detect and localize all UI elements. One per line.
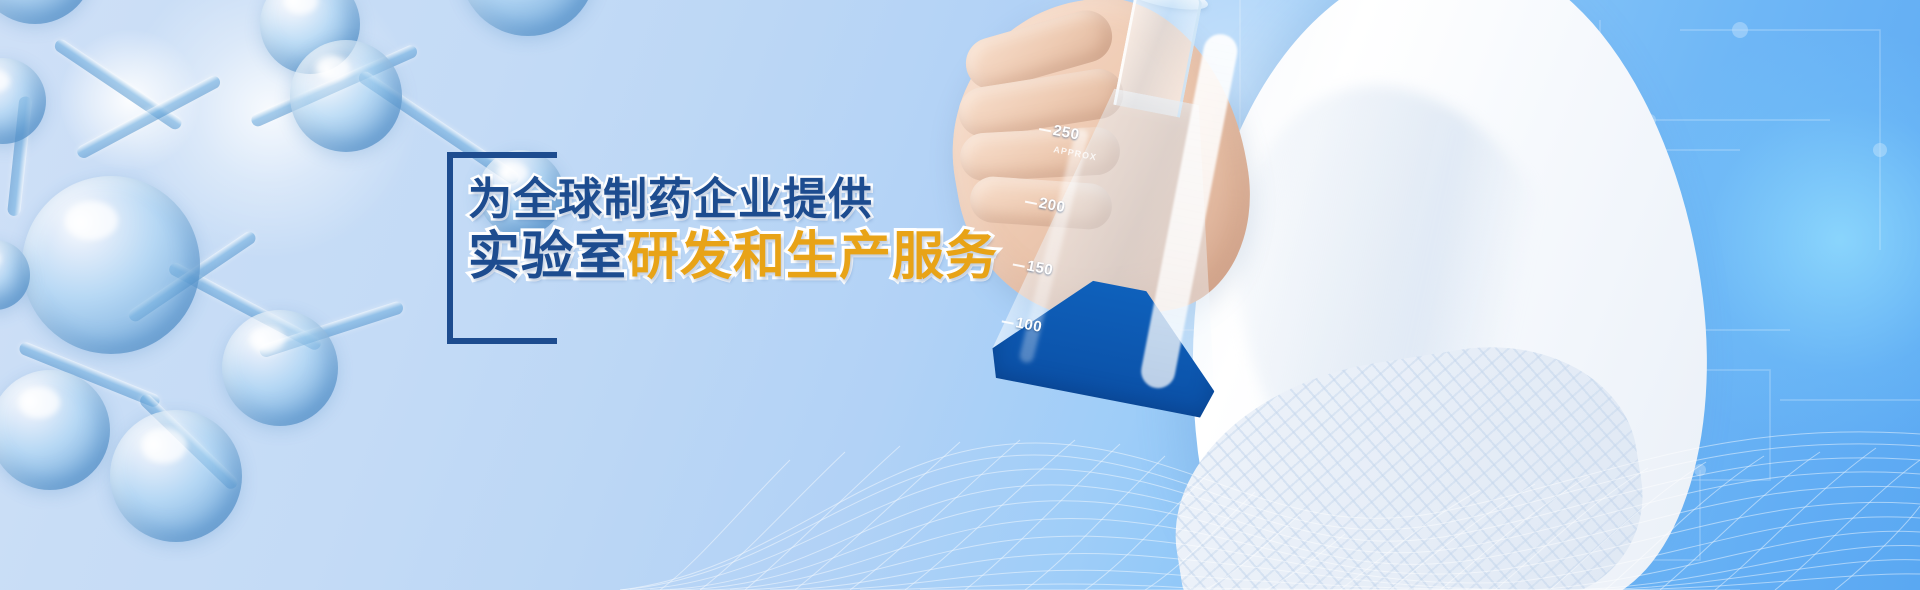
headline-line-2-blue: 实验室 [468,227,627,287]
molecule-atom [0,58,46,144]
molecule-bond [75,74,222,161]
headline-block: 为全球制药企业提供 实验室研发和生产服务 [468,178,1028,284]
molecule-bond [52,37,184,132]
wave-mesh-graphic [0,360,1920,590]
headline-line-2-gold: 研发和生产服务 [627,227,998,287]
molecule-atom [460,0,596,36]
molecule-atom [0,0,94,24]
flask-graduation-250: 250 [1052,122,1081,144]
molecule-atom [22,176,200,354]
headline-line-1: 为全球制药企业提供 [468,178,1028,223]
molecule-atom [290,40,402,152]
flask-graduation-200: 200 [1037,195,1066,217]
hero-banner: 250 APPROX 200 150 100 [0,0,1920,590]
headline-line-2: 实验室研发和生产服务 [468,231,1028,284]
